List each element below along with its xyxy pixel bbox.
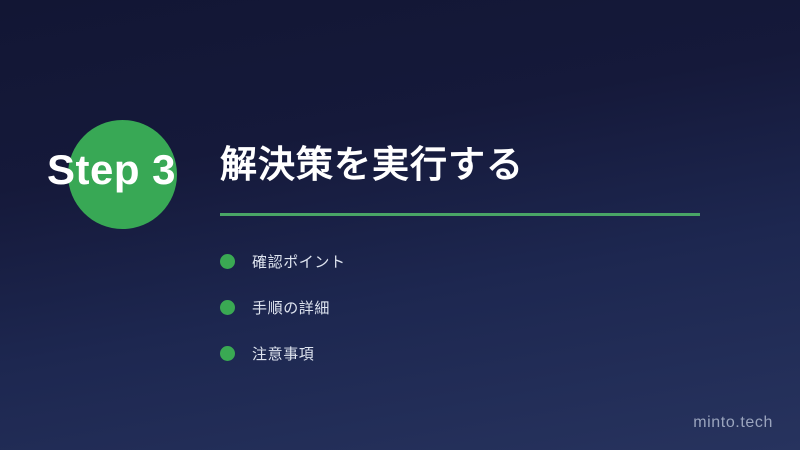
bullet-dot-icon bbox=[220, 346, 235, 361]
list-item: 注意事項 bbox=[220, 330, 700, 376]
list-item-label: 手順の詳細 bbox=[252, 297, 330, 318]
bullet-dot-icon bbox=[220, 300, 235, 315]
presentation-slide: Step 3 解決策を実行する 確認ポイント 手順の詳細 注意事項 minto.… bbox=[0, 0, 800, 450]
list-item: 確認ポイント bbox=[220, 238, 700, 284]
list-item: 手順の詳細 bbox=[220, 284, 700, 330]
list-item-label: 確認ポイント bbox=[252, 251, 346, 272]
bullet-list: 確認ポイント 手順の詳細 注意事項 bbox=[220, 238, 700, 376]
watermark-label: minto.tech bbox=[693, 414, 773, 432]
step-badge-label: Step 3 bbox=[47, 149, 176, 191]
title-divider bbox=[220, 213, 700, 216]
slide-title: 解決策を実行する bbox=[220, 143, 524, 187]
list-item-label: 注意事項 bbox=[252, 343, 314, 364]
bullet-dot-icon bbox=[220, 254, 235, 269]
